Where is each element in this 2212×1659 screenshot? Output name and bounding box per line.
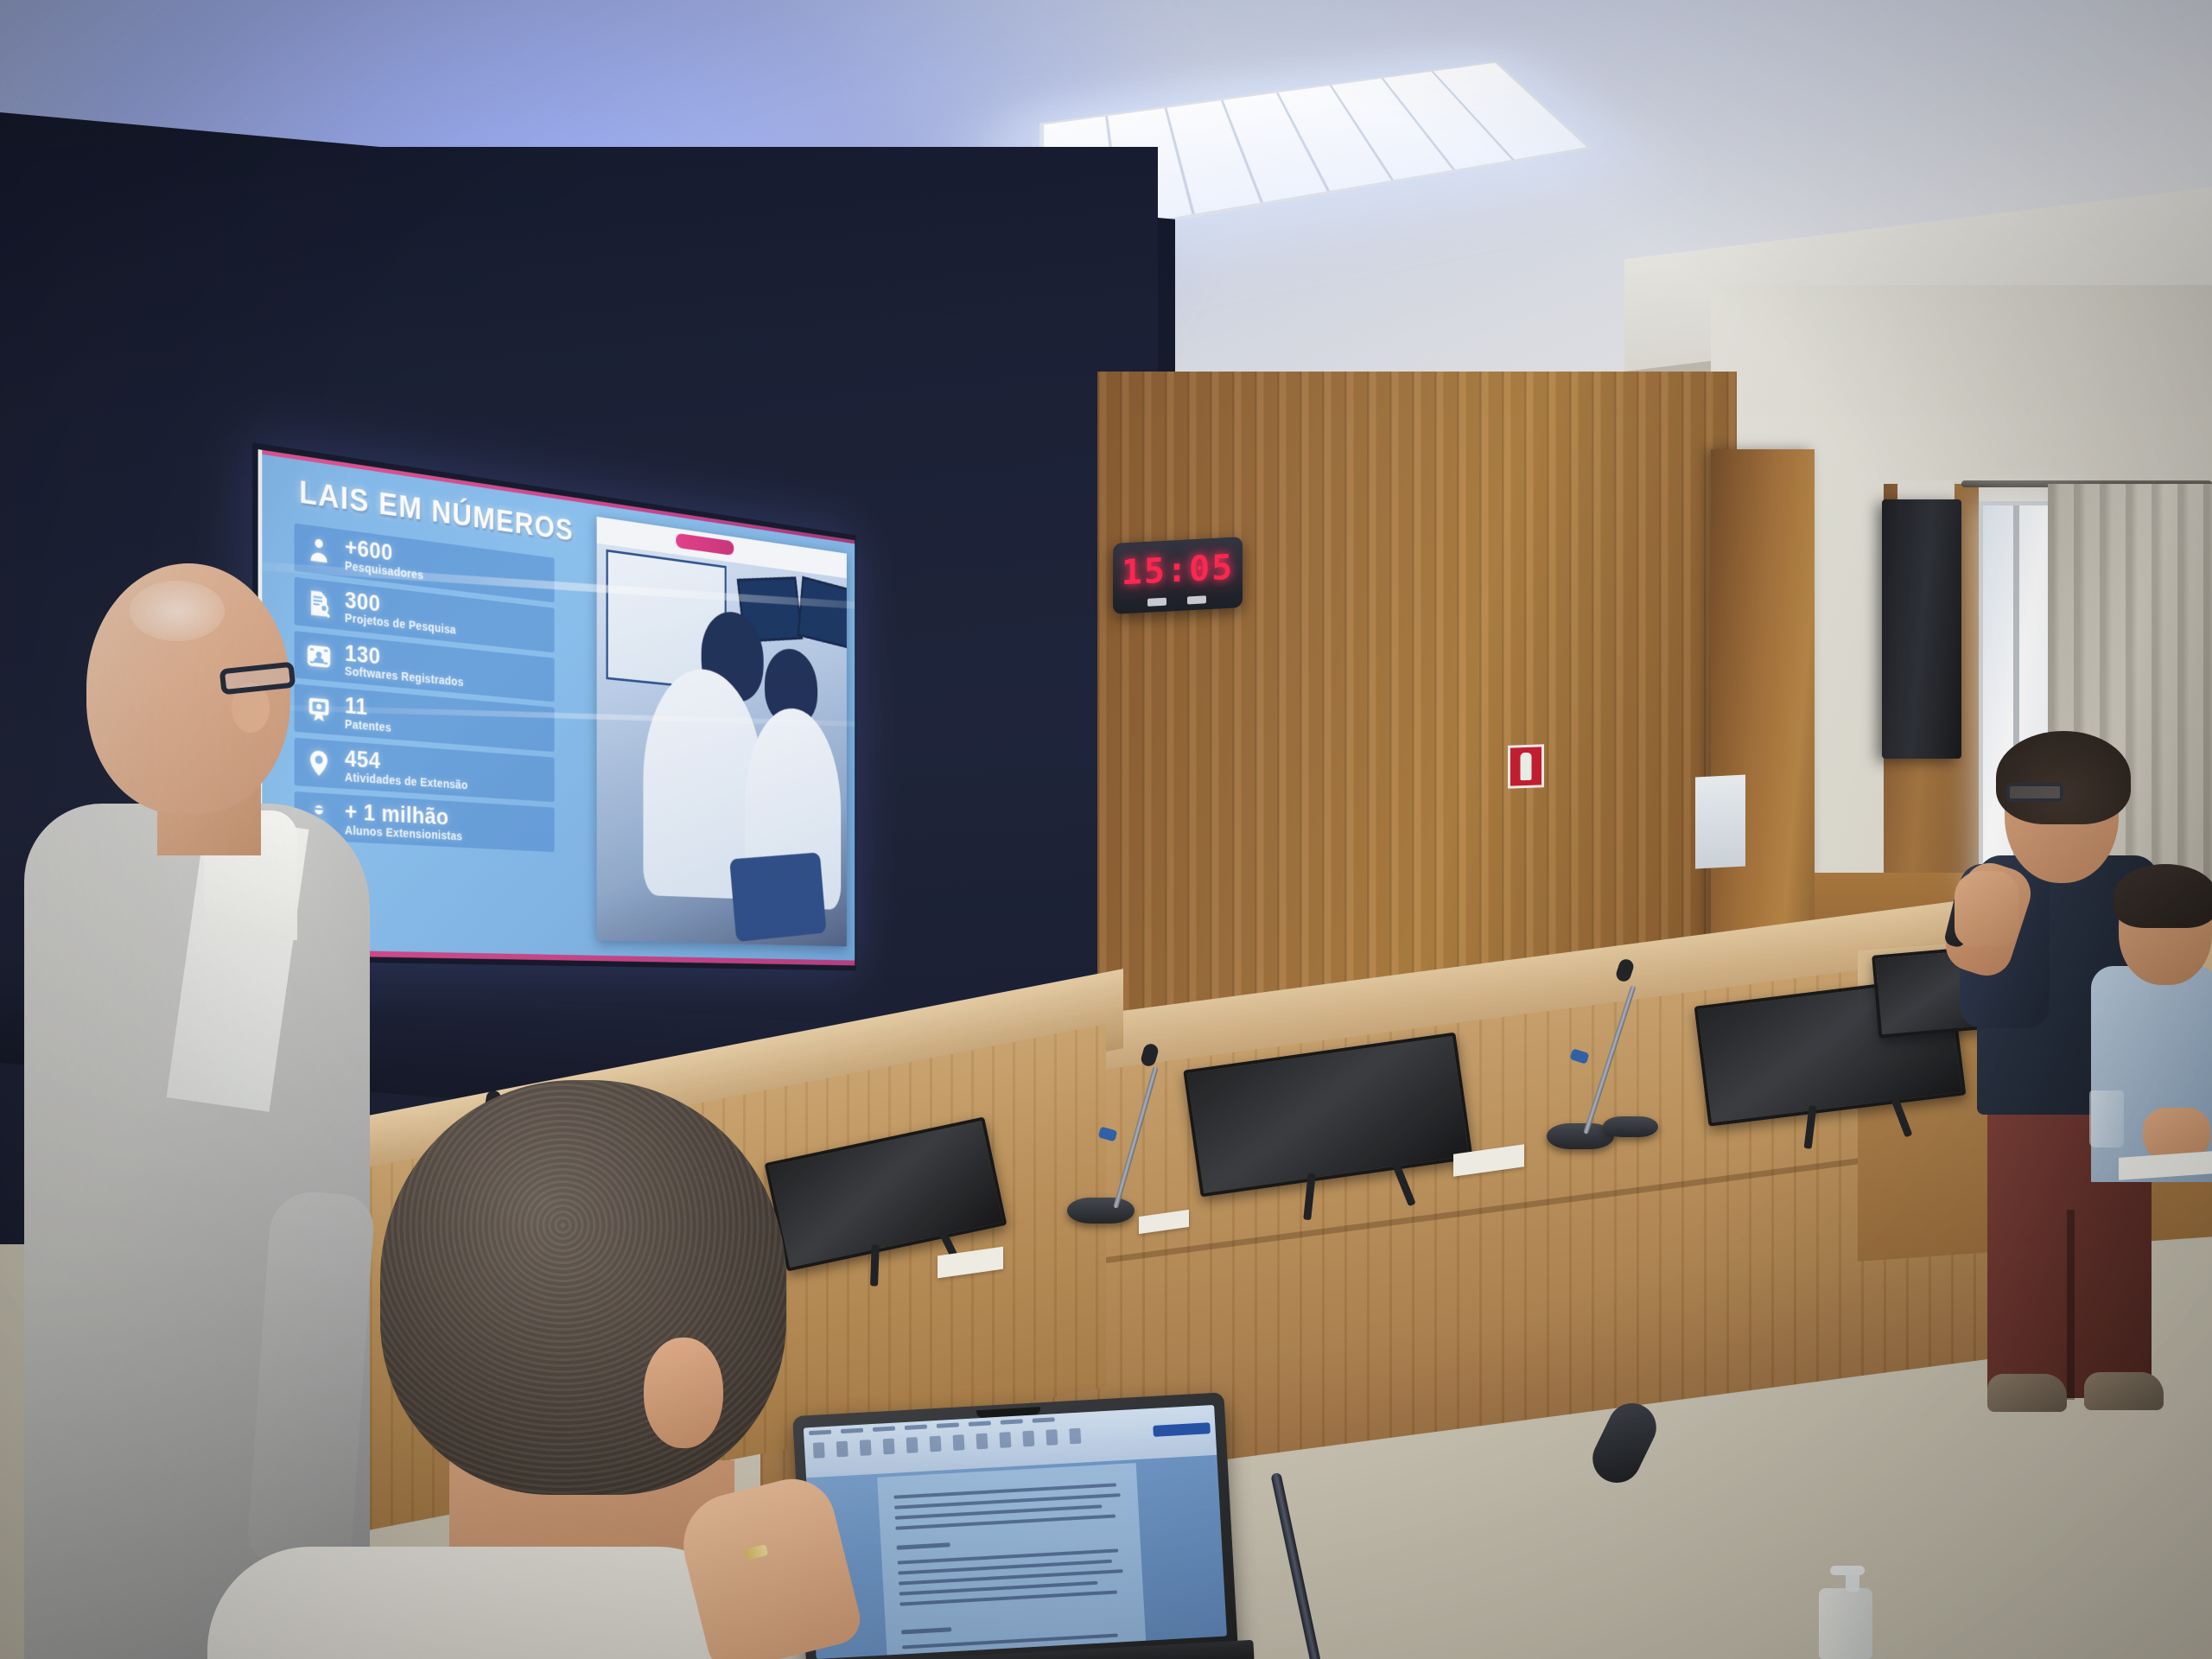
presenter-shoe <box>1987 1374 2067 1412</box>
water-glass[interactable] <box>2089 1090 2124 1147</box>
hand-sanitizer-bottle[interactable] <box>1819 1588 1872 1659</box>
foreground-hair <box>380 1080 786 1495</box>
screenshot-stage: 15:05 LAIS EM NÚMEROS +600 Pesquisadores <box>0 0 2212 1659</box>
presenter-leg-split <box>2067 1210 2075 1400</box>
document-page[interactable] <box>877 1463 1146 1655</box>
foreground-ear <box>644 1338 723 1448</box>
presenter-glasses-icon <box>2006 783 2063 802</box>
slide-photo-chair <box>729 852 826 942</box>
foreground-shirt <box>207 1547 760 1659</box>
seated-man-hair <box>2113 864 2212 928</box>
researcher-icon <box>304 532 334 569</box>
hand-sanitizer-pump-icon[interactable] <box>1830 1560 1865 1590</box>
desk-microphone-base[interactable] <box>1603 1116 1658 1137</box>
fire-extinguisher-sign-icon <box>1508 744 1544 788</box>
clock-button-left[interactable] <box>1147 598 1166 607</box>
location-pin-icon <box>304 747 334 781</box>
left-man-head-highlight <box>130 581 225 641</box>
stat-label: Patentes <box>345 718 391 734</box>
wall-notice-paper <box>1695 774 1745 868</box>
wall-speaker <box>1882 499 1961 759</box>
document-icon <box>304 586 334 621</box>
foreground-microphone-stem <box>1270 1472 1322 1659</box>
software-icon <box>304 639 334 675</box>
document-ribbon-toolbar[interactable] <box>804 1405 1217 1478</box>
clock-time-display: 15:05 <box>1113 547 1243 594</box>
slide-photo-lab <box>597 517 847 946</box>
desk-microphone-base[interactable] <box>1067 1198 1135 1224</box>
laptop-screen[interactable] <box>804 1405 1227 1659</box>
slide-photo-monitor <box>798 576 847 649</box>
wall-digital-clock: 15:05 <box>1113 537 1243 614</box>
presenter-hand <box>1955 871 2018 947</box>
clock-button-right[interactable] <box>1187 595 1206 604</box>
presenter-shoe <box>2084 1372 2164 1410</box>
share-button[interactable] <box>1153 1422 1211 1437</box>
presenter-hair <box>1996 731 2131 824</box>
